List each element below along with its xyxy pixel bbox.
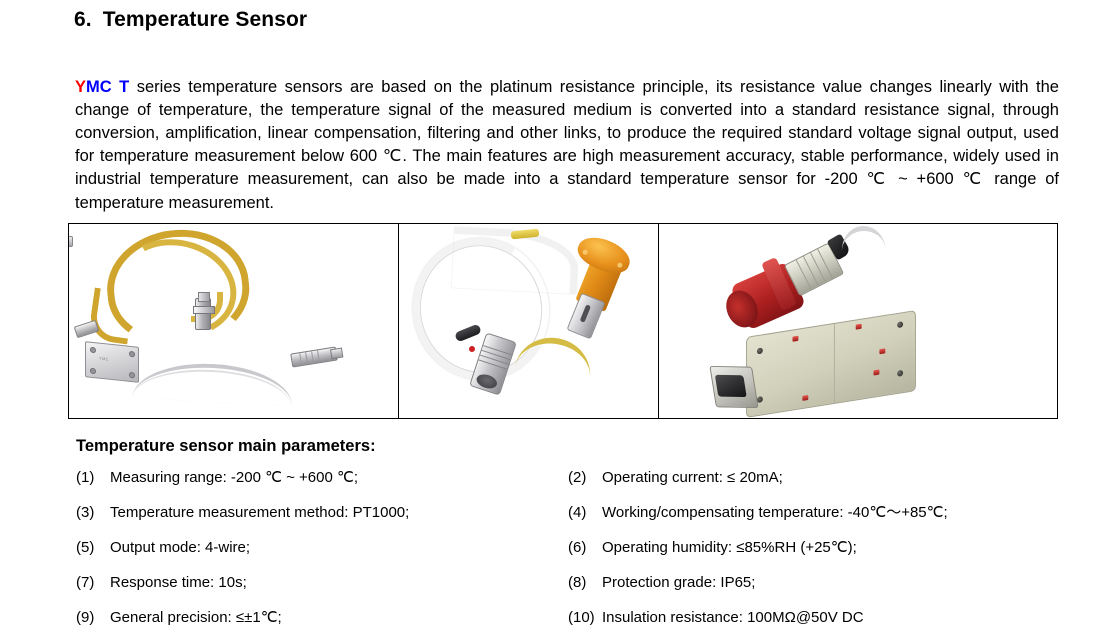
parameters-title: Temperature sensor main parameters: — [76, 437, 376, 456]
parameter-text: Working/compensating temperature: -40℃～+… — [602, 503, 948, 522]
parameter-text: Output mode: 4-wire; — [110, 538, 250, 557]
parameter-text: Operating humidity: ≤85%RH (+25℃); — [602, 538, 857, 557]
junction-box: YMC — [85, 341, 139, 383]
page-title: 6.Temperature Sensor — [74, 8, 307, 32]
product-photo-cabled-temperature-sensor-with-junction-box: YMC — [69, 224, 399, 418]
parameter-item-10: (10) Insulation resistance: 100MΩ@50V DC — [568, 608, 1066, 627]
parameter-item-7: (7) Response time: 10s; — [76, 573, 568, 592]
section-number: 6. — [74, 8, 92, 31]
parameter-number: (6) — [568, 538, 602, 557]
parameter-row: (3) Temperature measurement method: PT10… — [76, 503, 1066, 538]
brand-letter-y: Y — [75, 78, 86, 96]
document-page: 6.Temperature Sensor YMC T series temper… — [0, 0, 1102, 640]
parameter-text: Protection grade: IP65; — [602, 573, 755, 592]
product-photo-orange-probe-temperature-sensor — [399, 224, 659, 418]
enclosure-connector — [709, 366, 758, 408]
parameters-list: (1) Measuring range: -200 ℃ ~ +600 ℃; (2… — [76, 468, 1066, 643]
product-photo-red-flanged-sensor-with-enclosure — [659, 224, 1057, 418]
section-title-text: Temperature Sensor — [103, 8, 307, 31]
parameter-number: (8) — [568, 573, 602, 592]
parameter-row: (7) Response time: 10s; (8) Protection g… — [76, 573, 1066, 608]
parameter-row: (5) Output mode: 4-wire; (6) Operating h… — [76, 538, 1066, 573]
sensor-metal-tip — [566, 293, 605, 340]
parameter-item-8: (8) Protection grade: IP65; — [568, 573, 1066, 592]
parameter-number: (4) — [568, 503, 602, 522]
parameter-text: General precision: ≤±1℃; — [110, 608, 282, 627]
parameter-item-9: (9) General precision: ≤±1℃; — [76, 608, 568, 627]
intro-paragraph: YMC T series temperature sensors are bas… — [75, 76, 1059, 215]
parameter-row: (1) Measuring range: -200 ℃ ~ +600 ℃; (2… — [76, 468, 1066, 503]
parameter-number: (1) — [76, 468, 110, 487]
parameter-item-4: (4) Working/compensating temperature: -4… — [568, 503, 1066, 522]
parameter-text: Measuring range: -200 ℃ ~ +600 ℃; — [110, 468, 358, 487]
parameter-item-5: (5) Output mode: 4-wire; — [76, 538, 568, 557]
brand-letters-mc: MC — [86, 78, 112, 96]
cable-end-ferrule — [74, 320, 100, 339]
product-image-strip: YMC — [68, 223, 1058, 419]
parameter-number: (2) — [568, 468, 602, 487]
parameter-text: Operating current: ≤ 20mA; — [602, 468, 783, 487]
parameter-text: Insulation resistance: 100MΩ@50V DC — [602, 608, 864, 627]
junction-box-gland — [69, 236, 73, 247]
parameter-number: (3) — [76, 503, 110, 522]
cable-metal-connector — [195, 298, 211, 330]
brand-letter-t: T — [119, 78, 129, 96]
parameter-number: (9) — [76, 608, 110, 627]
parameter-item-2: (2) Operating current: ≤ 20mA; — [568, 468, 1066, 487]
parameter-text: Temperature measurement method: PT1000; — [110, 503, 409, 522]
parameter-number: (5) — [76, 538, 110, 557]
parameter-item-3: (3) Temperature measurement method: PT10… — [76, 503, 568, 522]
intro-body-text: series temperature sensors are based on … — [75, 78, 1059, 212]
parameter-text: Response time: 10s; — [110, 573, 247, 592]
gray-lead-wire — [840, 224, 886, 252]
parameter-item-6: (6) Operating humidity: ≤85%RH (+25℃); — [568, 538, 1066, 557]
steel-cable-connector — [290, 346, 338, 367]
yellow-coiled-cable — [107, 230, 247, 338]
beige-electronics-enclosure — [746, 310, 916, 418]
parameter-item-1: (1) Measuring range: -200 ℃ ~ +600 ℃; — [76, 468, 568, 487]
parameter-number: (10) — [568, 608, 602, 627]
parameter-row: (9) General precision: ≤±1℃; (10) Insula… — [76, 608, 1066, 643]
parameter-number: (7) — [76, 573, 110, 592]
